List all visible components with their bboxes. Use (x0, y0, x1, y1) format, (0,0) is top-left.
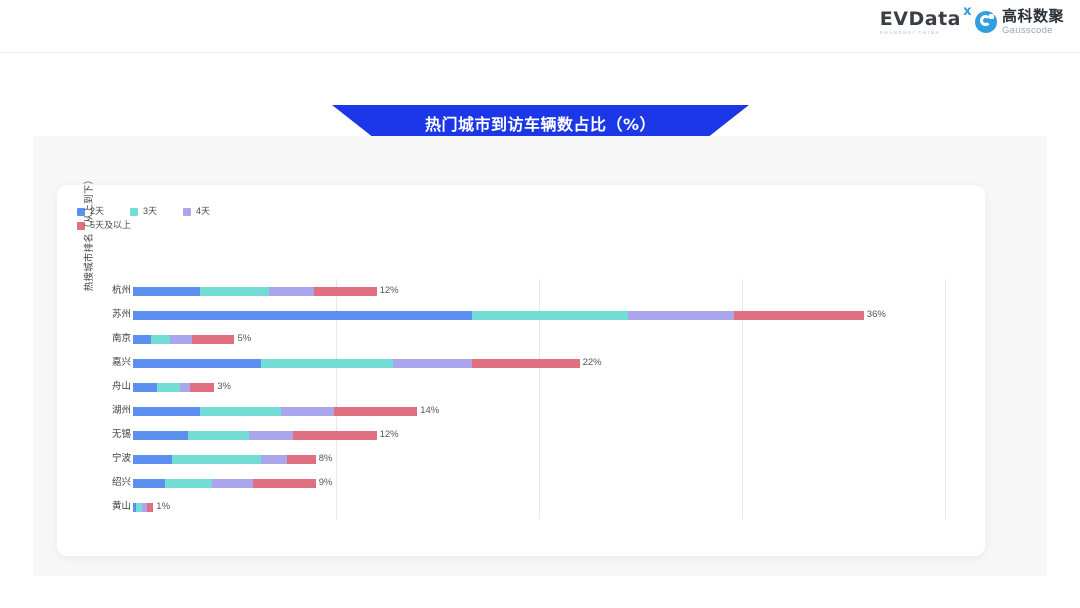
bar-value-label: 12% (380, 430, 399, 440)
bar-segment[interactable] (212, 479, 253, 488)
gausscode-logo: 高科数聚 Gausscode (975, 9, 1064, 36)
bar-value-label: 36% (867, 310, 886, 320)
y-axis-tick-label: 舟山 (93, 375, 131, 399)
page-header: EVData x SHANGHAI CHINA 高科数聚 Gausscode (0, 0, 1080, 53)
bar-segment[interactable] (133, 455, 172, 464)
chart-bar-row[interactable]: 嘉兴22% (57, 351, 985, 375)
bar-segment[interactable] (249, 431, 294, 440)
chart-bar-row[interactable]: 苏州36% (57, 303, 985, 327)
chart-card: 2天3天4天5天及以上 热搜城市排名（从上到下） 杭州12%苏州36%南京5%嘉… (57, 185, 985, 556)
bar-value-label: 5% (238, 334, 252, 344)
stacked-bar[interactable] (133, 407, 417, 416)
chart-bar-row[interactable]: 湖州14% (57, 399, 985, 423)
y-axis-tick-label: 南京 (93, 327, 131, 351)
bar-segment[interactable] (157, 383, 179, 392)
chart-bar-row[interactable]: 舟山3% (57, 375, 985, 399)
page-title: 热门城市到访车辆数占比（%） (425, 111, 656, 135)
stacked-bar[interactable] (133, 335, 234, 344)
bar-segment[interactable] (133, 287, 200, 296)
chart-bar-row[interactable]: 绍兴9% (57, 471, 985, 495)
gausscode-logo-cn: 高科数聚 (1002, 9, 1064, 24)
bar-value-label: 22% (583, 358, 602, 368)
chart-bar-row[interactable]: 南京5% (57, 327, 985, 351)
bar-segment[interactable] (393, 359, 472, 368)
bar-segment[interactable] (133, 431, 188, 440)
logo-group: EVData x SHANGHAI CHINA 高科数聚 Gausscode (880, 9, 1064, 36)
gausscode-wordmark: 高科数聚 Gausscode (1002, 9, 1064, 36)
bar-segment[interactable] (190, 383, 214, 392)
chart-bar-row[interactable]: 无锡12% (57, 423, 985, 447)
evdata-logo-wordmark: EVData x (880, 9, 961, 29)
bar-segment[interactable] (293, 431, 376, 440)
bar-segment[interactable] (287, 455, 315, 464)
chart-plot-area: 热搜城市排名（从上到下） 杭州12%苏州36%南京5%嘉兴22%舟山3%湖州14… (57, 185, 985, 556)
evdata-logo-subtitle: SHANGHAI CHINA (880, 30, 940, 35)
gausscode-mark-icon (975, 11, 997, 33)
bar-segment[interactable] (133, 479, 165, 488)
y-axis-tick-label: 无锡 (93, 423, 131, 447)
bar-segment[interactable] (180, 383, 190, 392)
y-axis-tick-label: 黄山 (93, 495, 131, 519)
chart-bar-row[interactable]: 黄山1% (57, 495, 985, 519)
stacked-bar[interactable] (133, 287, 377, 296)
y-axis-tick-label: 湖州 (93, 399, 131, 423)
bar-value-label: 12% (380, 286, 399, 296)
stacked-bar[interactable] (133, 455, 316, 464)
bar-segment[interactable] (170, 335, 192, 344)
gausscode-logo-en: Gausscode (1002, 26, 1064, 36)
y-axis-tick-label: 绍兴 (93, 471, 131, 495)
bar-segment[interactable] (151, 335, 169, 344)
chart-bar-row[interactable]: 杭州12% (57, 279, 985, 303)
bar-value-label: 3% (217, 382, 231, 392)
chart-bar-rows: 杭州12%苏州36%南京5%嘉兴22%舟山3%湖州14%无锡12%宁波8%绍兴9… (57, 279, 985, 519)
bar-segment[interactable] (261, 455, 287, 464)
bar-segment[interactable] (133, 311, 472, 320)
bar-segment[interactable] (269, 287, 314, 296)
bar-segment[interactable] (253, 479, 316, 488)
bar-segment[interactable] (628, 311, 734, 320)
bar-segment[interactable] (188, 431, 249, 440)
y-axis-tick-label: 苏州 (93, 303, 131, 327)
bar-segment[interactable] (165, 479, 212, 488)
bar-value-label: 9% (319, 478, 333, 488)
chart-bar-row[interactable]: 宁波8% (57, 447, 985, 471)
bar-segment[interactable] (200, 407, 281, 416)
bar-segment[interactable] (472, 359, 580, 368)
bar-value-label: 14% (420, 406, 439, 416)
bar-segment[interactable] (133, 359, 261, 368)
bar-value-label: 8% (319, 454, 333, 464)
bar-segment[interactable] (172, 455, 261, 464)
stacked-bar[interactable] (133, 383, 214, 392)
bar-segment[interactable] (261, 359, 393, 368)
stacked-bar[interactable] (133, 431, 377, 440)
bar-segment[interactable] (734, 311, 864, 320)
stacked-bar[interactable] (133, 503, 153, 512)
bar-segment[interactable] (314, 287, 377, 296)
stacked-bar[interactable] (133, 311, 864, 320)
bar-segment[interactable] (472, 311, 628, 320)
y-axis-tick-label: 嘉兴 (93, 351, 131, 375)
y-axis-tick-label: 杭州 (93, 279, 131, 303)
bar-value-label: 1% (156, 502, 170, 512)
bar-segment[interactable] (133, 335, 151, 344)
bar-segment[interactable] (281, 407, 334, 416)
evdata-logo-superscript-icon: x (963, 2, 972, 22)
evdata-logo-text: EVData (880, 8, 961, 30)
bar-segment[interactable] (192, 335, 235, 344)
y-axis-tick-label: 宁波 (93, 447, 131, 471)
evdata-logo: EVData x SHANGHAI CHINA (880, 9, 961, 35)
bar-segment[interactable] (334, 407, 417, 416)
bar-segment[interactable] (200, 287, 269, 296)
bar-segment[interactable] (133, 383, 157, 392)
bar-segment[interactable] (147, 503, 153, 512)
stacked-bar[interactable] (133, 359, 580, 368)
stacked-bar[interactable] (133, 479, 316, 488)
bar-segment[interactable] (133, 407, 200, 416)
